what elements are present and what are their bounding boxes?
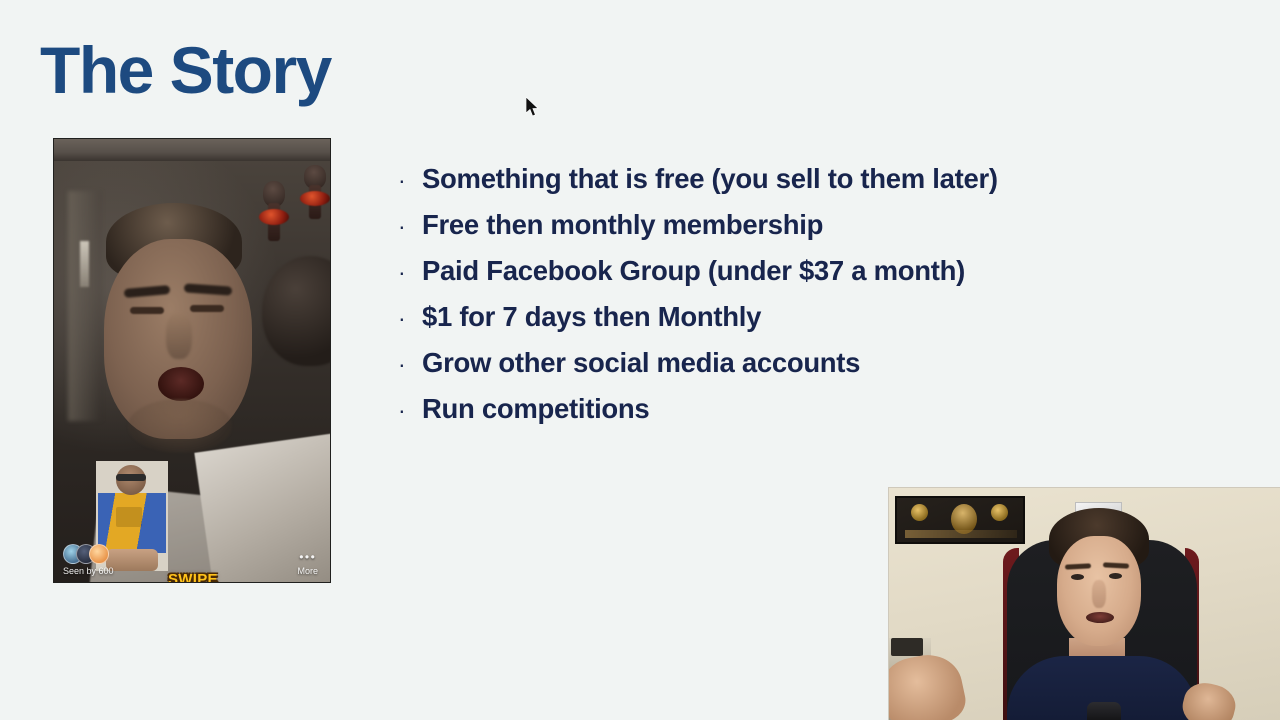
list-item-label: $1 for 7 days then Monthly [422,301,761,333]
bullet-marker: · [398,353,422,376]
poster-emblem-shape [991,504,1008,521]
story-room-background [54,161,330,583]
subject-mouth-shape [158,367,204,401]
avatar [89,544,109,564]
presenter-eye-shape [1071,574,1084,580]
seen-by-group[interactable]: Seen by 600 [63,544,117,576]
swipe-up-line-1: SWIPE [168,573,218,583]
background-object-shape [262,256,331,366]
list-item-label: Run competitions [422,393,649,425]
poster-emblem-shape [911,504,928,521]
poster-text-shape [905,530,1017,538]
mouse-pointer-icon [526,97,540,117]
list-item: · $1 for 7 days then Monthly [398,301,1158,347]
red-lamp-shape [300,191,330,206]
subject-eye-shape [190,305,224,312]
list-item: · Paid Facebook Group (under $37 a month… [398,255,1158,301]
microphone-shape [1087,702,1121,720]
doorframe-shape [68,191,102,421]
door-light-shape [80,241,89,287]
more-button[interactable]: ••• More [297,552,318,576]
desk-object-shape [891,638,923,656]
pip-pocket-shape [116,507,142,527]
presentation-slide: The Story [0,0,1280,720]
list-item: · Something that is free (you sell to th… [398,163,1158,209]
list-item: · Free then monthly membership [398,209,1158,255]
bullet-marker: · [398,215,422,238]
presenter-mouth-shape [1086,612,1114,623]
list-item: · Grow other social media accounts [398,347,1158,393]
ellipsis-icon: ••• [297,552,318,562]
story-status-band [54,139,330,161]
subject-nose-shape [166,313,192,359]
seen-by-count-label: Seen by 600 [63,566,117,576]
presenter-eye-shape [1109,573,1122,579]
more-label: More [297,566,318,576]
framed-poster [895,496,1025,544]
bullet-marker: · [398,261,422,284]
list-item-label: Paid Facebook Group (under $37 a month) [422,255,965,287]
bullet-marker: · [398,169,422,192]
list-item: · Run competitions [398,393,1158,439]
bullet-marker: · [398,399,422,422]
subject-eye-shape [130,307,164,314]
presenter-nose-shape [1092,580,1106,608]
presenter-webcam [888,487,1280,720]
list-item-label: Grow other social media accounts [422,347,860,379]
sunglasses-icon [116,474,146,481]
page-title: The Story [40,36,331,105]
swipe-up-sticker: SWIPE UP! [168,573,218,583]
bullet-list: · Something that is free (you sell to th… [398,163,1158,439]
seen-by-avatars [63,544,117,564]
red-lamp-shape [259,209,289,225]
bullet-marker: · [398,307,422,330]
list-item-label: Something that is free (you sell to them… [422,163,998,195]
subject-chin-shape [128,399,232,453]
instagram-story-screenshot: SWIPE UP! Seen by 600 ••• More [53,138,331,583]
list-item-label: Free then monthly membership [422,209,823,241]
